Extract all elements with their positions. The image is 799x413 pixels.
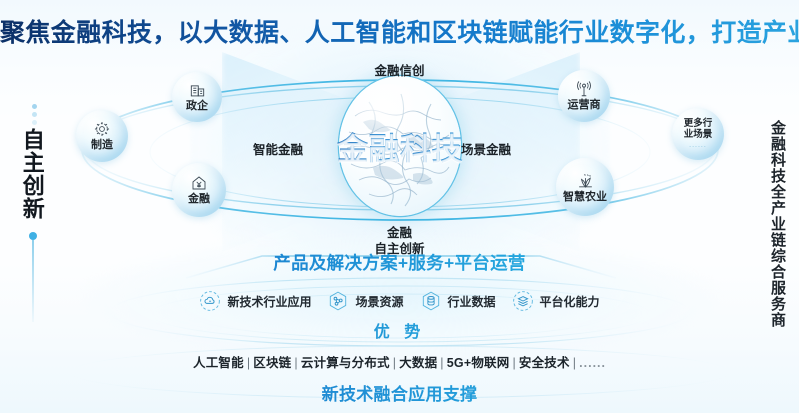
network-share-icon bbox=[327, 290, 349, 312]
globe-center-label: 金融科技 bbox=[337, 124, 463, 169]
capability-label: 平台化能力 bbox=[540, 293, 600, 310]
government-building-icon bbox=[189, 82, 206, 99]
capability-label: 行业数据 bbox=[448, 293, 496, 310]
capability-item-scenario-resource[interactable]: 场景资源 bbox=[327, 290, 403, 312]
bubble-label-line-2: 业场景 bbox=[684, 130, 713, 141]
bubble-telecom-operator[interactable]: 运营商 bbox=[558, 70, 610, 122]
tech-item: 区块链 bbox=[253, 356, 291, 370]
bank-house-yen-icon bbox=[190, 174, 208, 192]
footer-title: 新技术融合应用支撑 bbox=[0, 380, 799, 405]
bubble-label: 政企 bbox=[186, 100, 208, 112]
globe-label-left: 智能金融 bbox=[253, 139, 303, 158]
smart-agriculture-icon bbox=[576, 171, 595, 190]
antenna-tower-icon bbox=[575, 80, 593, 98]
tech-separator: | bbox=[440, 356, 443, 370]
bubble-ellipsis: ...... bbox=[689, 142, 707, 149]
bubble-smart-agriculture[interactable]: 智慧农业 bbox=[556, 158, 614, 216]
tech-separator: | bbox=[573, 356, 576, 370]
tech-separator: | bbox=[247, 356, 250, 370]
advantage-title: 优 势 bbox=[0, 318, 799, 342]
tech-item: 安全技术 bbox=[519, 356, 570, 370]
tech-separator: | bbox=[393, 356, 396, 370]
left-vertical-label: 自主创新 bbox=[20, 128, 44, 220]
globe-label-top: 金融信创 bbox=[0, 60, 799, 79]
bubble-label: 制造 bbox=[91, 139, 113, 151]
gear-icon bbox=[93, 120, 111, 138]
bubble-label-line-1: 更多行 bbox=[684, 119, 713, 130]
bubble-label: 运营商 bbox=[568, 99, 601, 111]
capability-item-industry-data[interactable]: 行业数据 bbox=[420, 290, 496, 312]
bubble-label: 金融 bbox=[188, 193, 210, 205]
left-dot-stack bbox=[30, 104, 38, 128]
tech-separator: | bbox=[294, 356, 297, 370]
capability-row: 新技术行业应用 场景资源 bbox=[0, 290, 799, 312]
tail-bulb-icon bbox=[29, 232, 37, 240]
tech-item: 云计算与分布式 bbox=[301, 356, 390, 370]
solution-band-title: 产品及解决方案+服务+平台运营 bbox=[0, 250, 799, 275]
bubble-manufacturing[interactable]: 制造 bbox=[76, 110, 128, 162]
bubble-more-scenarios[interactable]: 更多行 业场景 ...... bbox=[672, 108, 724, 160]
tech-item: 5G+物联网 bbox=[447, 356, 510, 370]
tech-ellipsis: ...... bbox=[579, 356, 606, 370]
bubble-label: 智慧农业 bbox=[563, 191, 607, 203]
bubble-government-enterprise[interactable]: 政企 bbox=[172, 72, 222, 122]
infographic-canvas: 聚焦金融科技，以大数据、人工智能和区块链赋能行业数字化，打造产业融合新生态 bbox=[0, 0, 799, 413]
capability-label: 新技术行业应用 bbox=[227, 293, 311, 310]
tech-separator: | bbox=[512, 356, 515, 370]
database-icon bbox=[420, 290, 442, 312]
tech-item: 大数据 bbox=[399, 356, 437, 370]
capability-item-new-tech[interactable]: 新技术行业应用 bbox=[199, 290, 311, 312]
layers-icon bbox=[512, 290, 534, 312]
center-globe: 金融科技 bbox=[339, 76, 461, 216]
tech-item: 人工智能 bbox=[193, 356, 244, 370]
bubble-finance[interactable]: 金融 bbox=[172, 163, 226, 217]
capability-item-platform[interactable]: 平台化能力 bbox=[512, 290, 600, 312]
cloud-icon bbox=[199, 290, 221, 312]
tech-stack-strip: 人工智能|区块链|云计算与分布式|大数据|5G+物联网|安全技术|...... bbox=[0, 352, 799, 371]
globe-label-right: 场景金融 bbox=[461, 139, 511, 158]
capability-label: 场景资源 bbox=[355, 293, 403, 310]
